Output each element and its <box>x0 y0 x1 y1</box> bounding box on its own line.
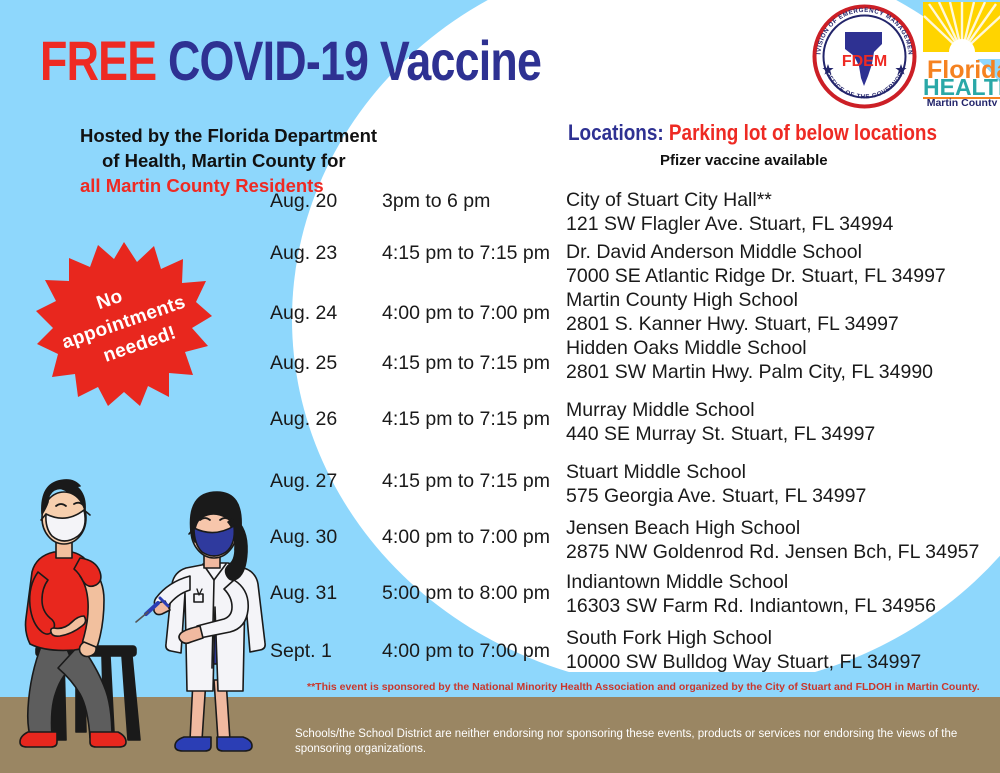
schedule-row: Aug. 27 4:15 pm to 7:15 pm Stuart Middle… <box>270 470 1000 516</box>
location-address: 16303 SW Farm Rd. Indiantown, FL 34956 <box>566 594 996 618</box>
hosted-line-1: Hosted by the Florida Department <box>80 125 377 146</box>
schedule-date: Sept. 1 <box>270 640 370 663</box>
schedule-date: Aug. 27 <box>270 470 370 493</box>
schedule-time: 4:15 pm to 7:15 pm <box>382 242 562 265</box>
schedule-time: 4:00 pm to 7:00 pm <box>382 640 562 663</box>
schedule-time: 5:00 pm to 8:00 pm <box>382 582 562 605</box>
locations-value: Parking lot of below locations <box>669 120 937 145</box>
headline-free: FREE <box>40 29 156 92</box>
schedule-location: City of Stuart City Hall** 121 SW Flagle… <box>566 188 996 236</box>
schedule-location: Hidden Oaks Middle School 2801 SW Martin… <box>566 336 996 384</box>
location-name: Indiantown Middle School <box>566 571 788 593</box>
location-name: City of Stuart City Hall** <box>566 189 772 211</box>
svg-text:FDEM: FDEM <box>842 53 887 70</box>
schedule-row: Sept. 1 4:00 pm to 7:00 pm South Fork Hi… <box>270 640 1000 686</box>
location-name: Martin County High School <box>566 289 798 311</box>
locations-label: Locations: <box>568 120 664 145</box>
schedule-row: Aug. 23 4:15 pm to 7:15 pm Dr. David And… <box>270 242 1000 288</box>
location-address: 121 SW Flagler Ave. Stuart, FL 34994 <box>566 212 996 236</box>
schedule-location: Stuart Middle School 575 Georgia Ave. St… <box>566 460 996 508</box>
fdem-logo: DIVISION OF EMERGENCY MANAGEMENT OFFICE … <box>812 4 917 109</box>
location-name: South Fork High School <box>566 627 772 649</box>
schedule-location: Murray Middle School 440 SE Murray St. S… <box>566 398 996 446</box>
schedule-time: 4:15 pm to 7:15 pm <box>382 352 562 375</box>
schedule-location: South Fork High School 10000 SW Bulldog … <box>566 626 996 674</box>
location-name: Murray Middle School <box>566 399 755 421</box>
page-title: FREE COVID-19 Vaccine <box>40 28 541 93</box>
hosted-line-2: of Health, Martin County for <box>80 148 377 173</box>
location-address: 2875 NW Goldenrod Rd. Jensen Bch, FL 349… <box>566 540 996 564</box>
schedule-time: 3pm to 6 pm <box>382 190 562 213</box>
schedule-row: Aug. 26 4:15 pm to 7:15 pm Murray Middle… <box>270 408 1000 454</box>
florida-health-icon: Florida HEALTH Martin County <box>919 2 1000 106</box>
location-address: 2801 SW Martin Hwy. Palm City, FL 34990 <box>566 360 996 384</box>
svg-text:Martin County: Martin County <box>927 97 998 106</box>
schedule-row: Aug. 31 5:00 pm to 8:00 pm Indiantown Mi… <box>270 582 1000 628</box>
vaccine-note: Pfizer vaccine available <box>660 152 828 169</box>
no-appointments-badge: No appointments needed! <box>36 240 212 406</box>
fdem-seal-icon: DIVISION OF EMERGENCY MANAGEMENT OFFICE … <box>812 4 917 109</box>
florida-health-logo: Florida HEALTH Martin County <box>919 2 1000 106</box>
patient-and-nurse-icon <box>18 448 284 773</box>
schedule-time: 4:00 pm to 7:00 pm <box>382 526 562 549</box>
schedule-location: Dr. David Anderson Middle School 7000 SE… <box>566 240 996 288</box>
schedule-time: 4:15 pm to 7:15 pm <box>382 470 562 493</box>
schedule-location: Indiantown Middle School 16303 SW Farm R… <box>566 570 996 618</box>
schedule-location: Jensen Beach High School 2875 NW Goldenr… <box>566 516 996 564</box>
schedule-row: Aug. 20 3pm to 6 pm City of Stuart City … <box>270 190 1000 236</box>
sponsor-note: **This event is sponsored by the Nationa… <box>307 681 980 693</box>
schedule-date: Aug. 24 <box>270 302 370 325</box>
location-name: Hidden Oaks Middle School <box>566 337 807 359</box>
schedule-location: Martin County High School 2801 S. Kanner… <box>566 288 996 336</box>
schedule-row: Aug. 25 4:15 pm to 7:15 pm Hidden Oaks M… <box>270 352 1000 398</box>
locations-header: Locations: Parking lot of below location… <box>568 120 937 146</box>
school-disclaimer: Schools/the School District are neither … <box>295 727 975 757</box>
location-name: Jensen Beach High School <box>566 517 800 539</box>
schedule-date: Aug. 31 <box>270 582 370 605</box>
hosted-by-text: Hosted by the Florida Department of Heal… <box>80 123 377 198</box>
location-address: 2801 S. Kanner Hwy. Stuart, FL 34997 <box>566 312 996 336</box>
location-name: Stuart Middle School <box>566 461 746 483</box>
headline-covid: COVID-19 Vaccine <box>168 29 541 92</box>
schedule-row: Aug. 30 4:00 pm to 7:00 pm Jensen Beach … <box>270 526 1000 572</box>
location-address: 440 SE Murray St. Stuart, FL 34997 <box>566 422 996 446</box>
schedule-time: 4:15 pm to 7:15 pm <box>382 408 562 431</box>
location-address: 10000 SW Bulldog Way Stuart, FL 34997 <box>566 650 996 674</box>
schedule-date: Aug. 26 <box>270 408 370 431</box>
schedule-date: Aug. 25 <box>270 352 370 375</box>
schedule-time: 4:00 pm to 7:00 pm <box>382 302 562 325</box>
location-address: 575 Georgia Ave. Stuart, FL 34997 <box>566 484 996 508</box>
location-name: Dr. David Anderson Middle School <box>566 241 862 263</box>
schedule-date: Aug. 30 <box>270 526 370 549</box>
location-address: 7000 SE Atlantic Ridge Dr. Stuart, FL 34… <box>566 264 996 288</box>
flyer-canvas: FREE COVID-19 Vaccine Hosted by the Flor… <box>0 0 1000 773</box>
schedule-date: Aug. 23 <box>270 242 370 265</box>
vaccination-illustration <box>18 448 284 773</box>
schedule-date: Aug. 20 <box>270 190 370 213</box>
